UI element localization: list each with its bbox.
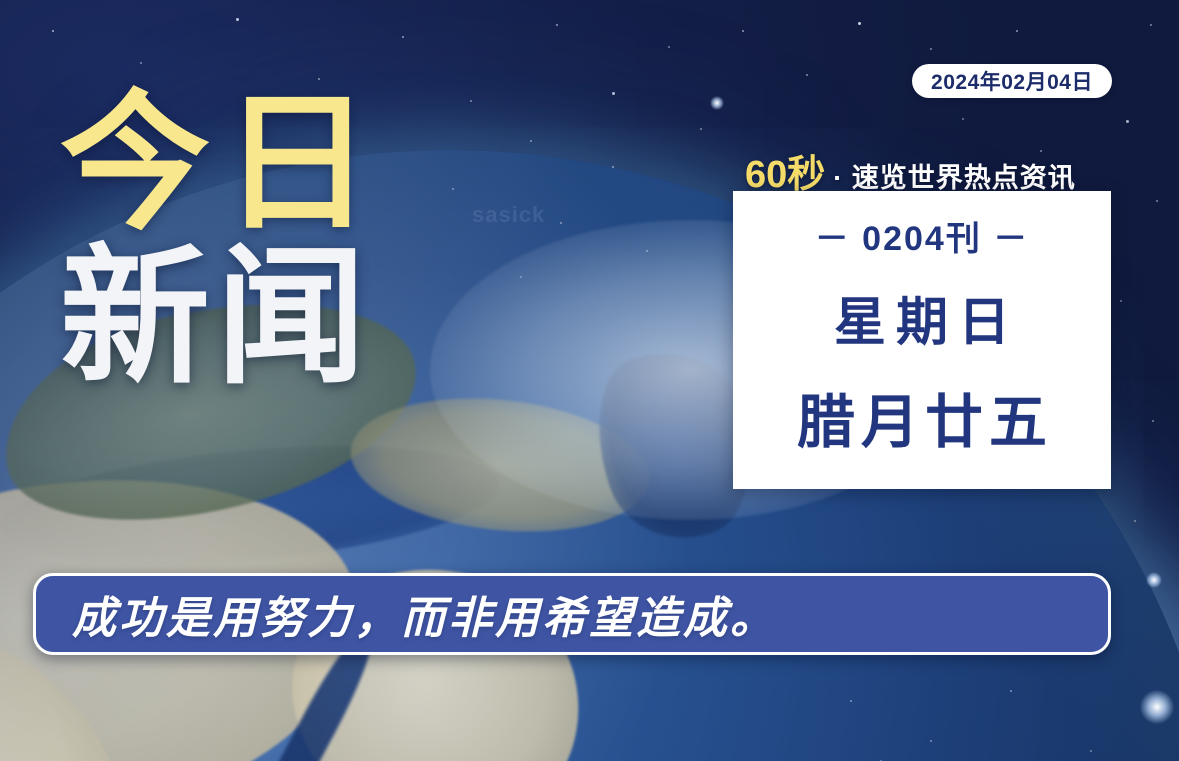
tagline-rest: · 速览世界热点资讯: [833, 156, 1076, 195]
weekday-label: 星期日: [824, 280, 1020, 355]
lunar-date-label: 腊月廿五: [791, 375, 1053, 459]
headline-line-today: 今日: [60, 92, 490, 236]
news-poster: sasick 今日 新闻 2024年02月04日 60秒 · 速览世界热点资讯 …: [0, 0, 1179, 761]
info-card: － 0204刊 － 星期日 腊月廿五: [733, 191, 1111, 489]
quote-bar: 成功是用努力，而非用希望造成。: [33, 573, 1111, 655]
date-badge: 2024年02月04日: [912, 64, 1112, 98]
headline-block: 今日 新闻: [60, 92, 490, 390]
tagline-highlight: 60秒: [745, 143, 825, 198]
issue-number: － 0204刊 －: [815, 211, 1030, 260]
quote-text: 成功是用努力，而非用希望造成。: [36, 582, 777, 646]
headline-line-news: 新闻: [60, 246, 490, 390]
tagline: 60秒 · 速览世界热点资讯: [745, 143, 1076, 198]
